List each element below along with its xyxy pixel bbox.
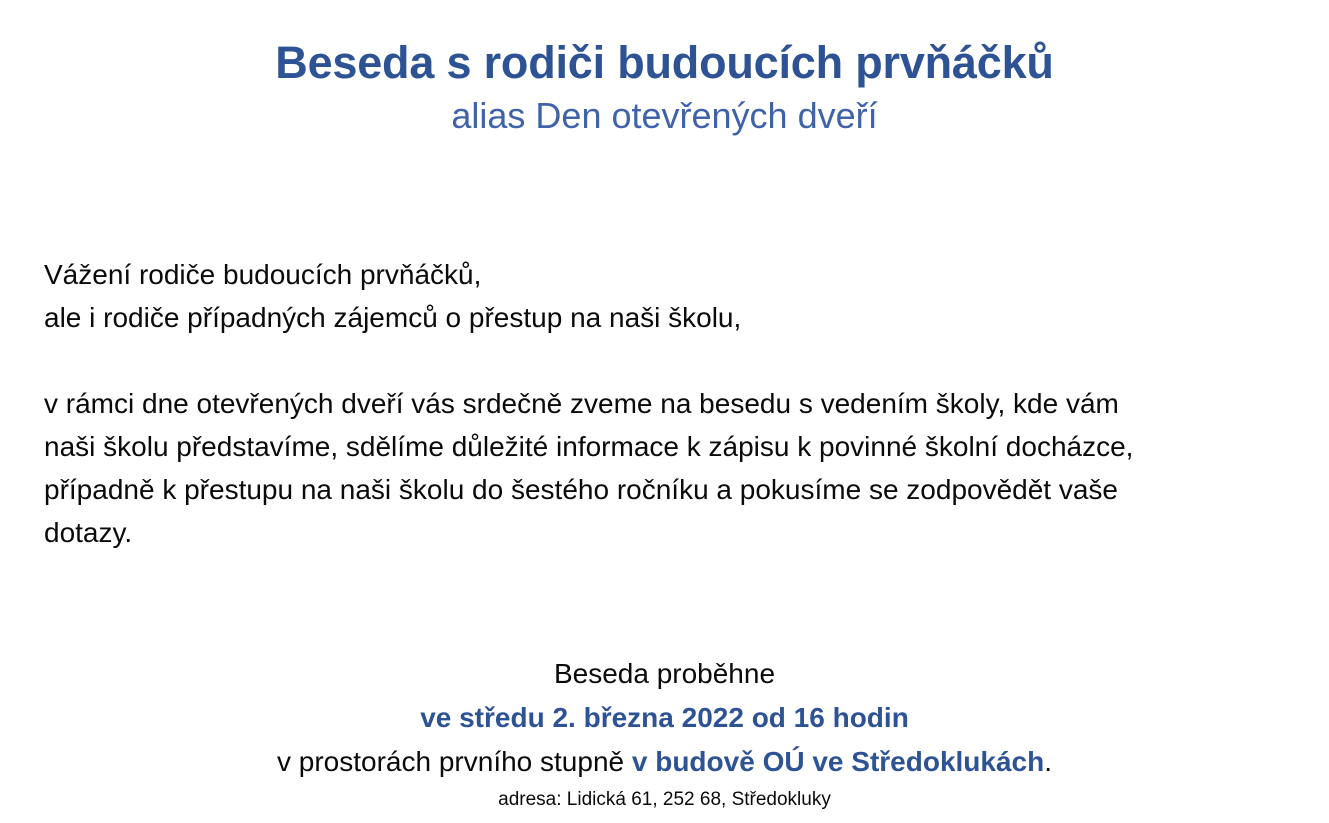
venue-highlight-text: v budově OÚ ve Středoklukách bbox=[632, 746, 1044, 777]
event-details-block: Beseda proběhne ve středu 2. března 2022… bbox=[0, 652, 1329, 814]
salutation-line-1: Vážení rodiče budoucích prvňáčků, bbox=[44, 253, 1284, 296]
main-paragraph-line-2: naši školu představíme, sdělíme důležité… bbox=[44, 425, 1284, 468]
heading-block: Beseda s rodiči budoucích prvňáčků alias… bbox=[0, 38, 1329, 138]
main-paragraph-line-3: případně k přestupu na naši školu do šes… bbox=[44, 468, 1284, 511]
venue-suffix-text: . bbox=[1044, 746, 1052, 777]
event-address: adresa: Lidická 61, 252 68, Středokluky bbox=[0, 786, 1329, 814]
venue-prefix-text: v prostorách prvního stupně bbox=[277, 746, 632, 777]
event-venue-line: v prostorách prvního stupně v budově OÚ … bbox=[0, 740, 1329, 784]
main-paragraph: v rámci dne otevřených dveří vás srdečně… bbox=[44, 382, 1284, 554]
paragraph-spacer bbox=[44, 339, 1284, 382]
page-subtitle: alias Den otevřených dveří bbox=[0, 94, 1329, 137]
salutation-line-2: ale i rodiče případných zájemců o přestu… bbox=[44, 296, 1284, 339]
event-datetime: ve středu 2. března 2022 od 16 hodin bbox=[0, 696, 1329, 740]
event-intro-line: Beseda proběhne bbox=[0, 652, 1329, 696]
body-block: Vážení rodiče budoucích prvňáčků, ale i … bbox=[44, 253, 1284, 554]
main-paragraph-line-4: dotazy. bbox=[44, 511, 1284, 554]
page-title: Beseda s rodiči budoucích prvňáčků bbox=[0, 38, 1329, 88]
main-paragraph-line-1: v rámci dne otevřených dveří vás srdečně… bbox=[44, 382, 1284, 425]
flyer-page: Beseda s rodiči budoucích prvňáčků alias… bbox=[0, 0, 1329, 823]
salutation-paragraph: Vážení rodiče budoucích prvňáčků, ale i … bbox=[44, 253, 1284, 339]
